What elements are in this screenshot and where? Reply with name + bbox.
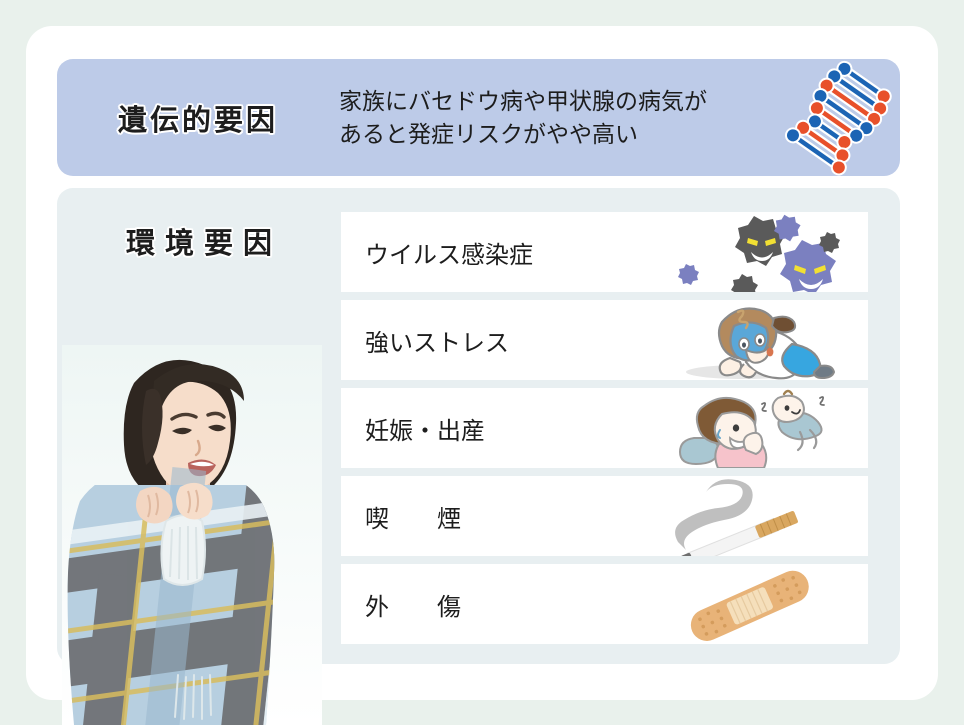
list-item[interactable]: ウイルス感染症	[341, 212, 868, 292]
list-item[interactable]: 妊娠・出産	[341, 388, 868, 468]
virus-icon	[634, 212, 864, 292]
list-item[interactable]: 強いストレス	[341, 300, 868, 380]
list-item-label: 強いストレス	[341, 323, 509, 358]
pregnancy-childbirth-icon	[634, 388, 864, 468]
woman-wrapped-in-blanket-photo	[62, 345, 322, 725]
list-item-label: 妊娠・出産	[341, 411, 485, 446]
genetic-factor-description: 家族にバセドウ病や甲状腺の病気が あると発症リスクがやや高い	[339, 85, 780, 150]
environment-factor-label: 環境要因	[57, 220, 341, 262]
list-item-label: ウイルス感染症	[341, 235, 533, 270]
cigarette-icon	[634, 476, 864, 556]
list-item-label: 外 傷	[341, 587, 461, 622]
environment-factor-list: ウイルス感染症	[341, 212, 868, 644]
genetic-description-line-2: あると発症リスクがやや高い	[339, 118, 770, 151]
list-item[interactable]: 喫 煙	[341, 476, 868, 556]
genetic-factor-label: 遺伝的要因	[57, 97, 339, 139]
genetic-factor-panel: 遺伝的要因 家族にバセドウ病や甲状腺の病気が あると発症リスクがやや高い	[57, 59, 900, 176]
dna-helix-icon	[780, 59, 900, 176]
genetic-description-line-1: 家族にバセドウ病や甲状腺の病気が	[339, 85, 770, 118]
stressed-person-icon	[634, 300, 864, 380]
infographic-root: 遺伝的要因 家族にバセドウ病や甲状腺の病気が あると発症リスクがやや高い	[0, 0, 964, 725]
list-item[interactable]: 外 傷	[341, 564, 868, 644]
list-item-label: 喫 煙	[341, 499, 461, 534]
bandage-icon	[634, 564, 864, 644]
